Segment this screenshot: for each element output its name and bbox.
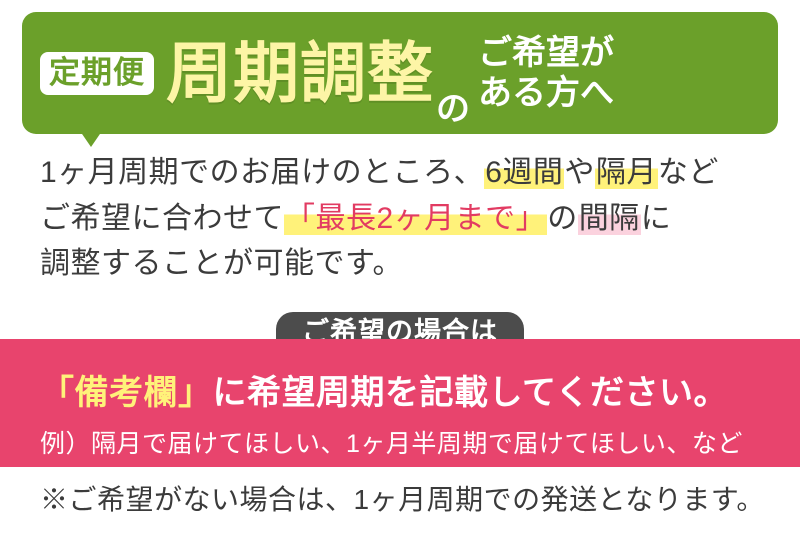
desc-l1-a: 1ヶ月周期でのお届けのところ、: [40, 156, 484, 189]
desc-l1-c: や: [564, 156, 595, 189]
desc-l2-a: ご希望に合わせて: [40, 202, 284, 235]
footnote-text: ※ご希望がない場合は、1ヶ月周期での発送となります。: [40, 478, 765, 518]
instruction-main-text: 「備考欄」に希望周期を記載してください。: [40, 365, 728, 414]
instruction-main-rest: に希望周期を記載してください。: [213, 374, 728, 412]
banner-subtitle: ご希望が ある方へ: [478, 33, 614, 113]
desc-l2-highlight-interval: 間隔: [578, 202, 641, 235]
instruction-example-text: 例）隔月で届けてほしい、1ヶ月半周期で届けてほしい、など: [40, 424, 743, 460]
description-paragraph: 1ヶ月周期でのお届けのところ、6週間や隔月など ご希望に合わせて「最長2ヶ月まで…: [40, 150, 776, 287]
banner-particle: の: [436, 92, 470, 134]
desc-l1-highlight-bimonthly: 隔月: [595, 156, 658, 189]
instruction-remarks-field: 「備考欄」: [40, 374, 213, 412]
desc-l1-e: など: [658, 156, 719, 189]
description-line-2: ご希望に合わせて「最長2ヶ月まで」の間隔に: [40, 196, 776, 242]
banner-subtitle-line1: ご希望が: [478, 34, 614, 72]
banner-title: 周期調整: [166, 40, 434, 106]
description-line-1: 1ヶ月周期でのお届けのところ、6週間や隔月など: [40, 150, 776, 196]
desc-l1-highlight-6weeks: 6週間: [484, 156, 564, 189]
desc-l2-highlight-max2months: 「最長2ヶ月まで」: [284, 202, 547, 235]
desc-l2-c: の: [547, 202, 578, 235]
description-line-3: 調整することが可能です。: [40, 241, 776, 287]
banner-tail-triangle: [80, 131, 102, 147]
header-banner: 定期便 周期調整 の ご希望が ある方へ: [22, 12, 778, 134]
banner-subtitle-line2: ある方へ: [478, 74, 614, 112]
promo-page: 定期便 周期調整 の ご希望が ある方へ 1ヶ月周期でのお届けのところ、6週間や…: [0, 0, 800, 533]
desc-l2-e: に: [641, 202, 672, 235]
subscription-badge: 定期便: [40, 52, 154, 95]
